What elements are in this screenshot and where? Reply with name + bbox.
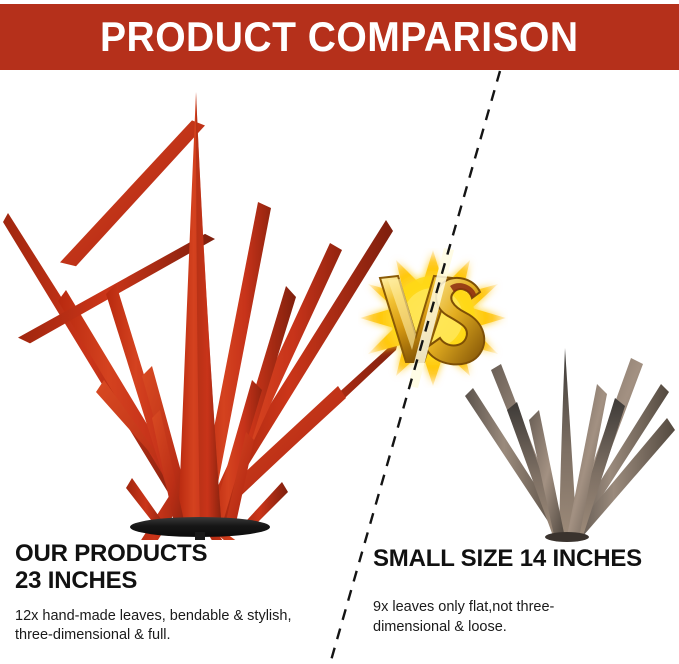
left-description-line2: three-dimensional & full. [15, 626, 355, 646]
right-heading-line1: SMALL SIZE 14 INCHES [373, 545, 669, 572]
left-description: 12x hand-made leaves, bendable & stylish… [15, 607, 355, 646]
right-description-line1: 9x leaves only flat,not three- [373, 598, 669, 618]
product-comparison-image: PRODUCT COMPARISON [0, 0, 679, 664]
right-heading: SMALL SIZE 14 INCHES [373, 545, 669, 572]
small-product-base [545, 532, 589, 542]
left-heading: OUR PRODUCTS 23 INCHES [15, 540, 355, 595]
right-description: 9x leaves only flat,not three- dimension… [373, 598, 669, 637]
left-heading-line1: OUR PRODUCTS [15, 540, 355, 567]
right-description-line2: dimensional & loose. [373, 618, 669, 638]
header-banner: PRODUCT COMPARISON [0, 4, 679, 70]
left-product-image [0, 80, 400, 540]
left-heading-line2: 23 INCHES [15, 567, 355, 594]
vs-badge [358, 248, 508, 388]
left-caption: OUR PRODUCTS 23 INCHES 12x hand-made lea… [15, 540, 355, 646]
page-title: PRODUCT COMPARISON [100, 16, 579, 58]
right-caption: SMALL SIZE 14 INCHES 9x leaves only flat… [373, 545, 669, 637]
left-description-line1: 12x hand-made leaves, bendable & stylish… [15, 607, 355, 627]
